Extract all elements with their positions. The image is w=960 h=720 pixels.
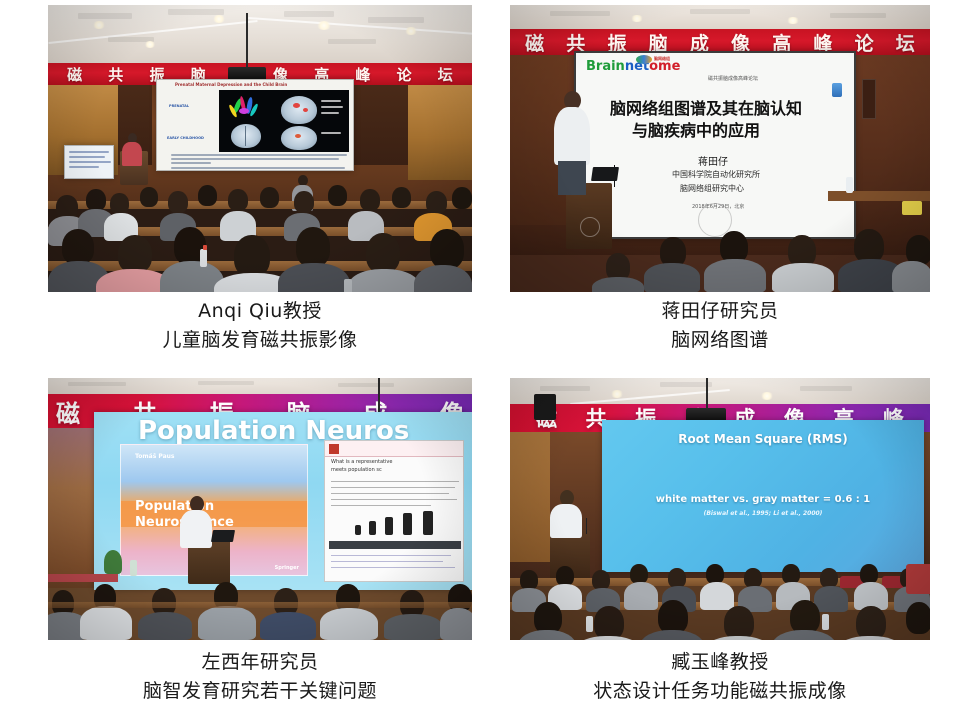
audience-head [328,185,347,206]
audience-area [510,201,930,292]
audience-body-front [278,263,350,292]
monitor-text-line [69,151,109,153]
water-bottle [203,245,207,250]
paper-figure-silhouette [403,513,412,535]
slide-citation: (Biswal et al., 1995; Li et al., 2000) [602,510,924,517]
ceiling-panel [540,386,590,391]
audience-head [198,185,217,206]
ceiling-downlight [212,15,226,23]
speaker-body-white-shirt [554,107,590,165]
bullet-text-line [171,167,345,169]
brain-slice-axial [281,126,317,150]
slide-label-prenatal: PRENATAL [169,104,189,108]
paper-body-line [331,487,455,488]
slide-affiliation-1: 中国科学院自动化研究所 [672,169,760,180]
audience-head-front [906,602,930,634]
tract-fiber [239,108,249,114]
audience-head [860,564,878,584]
laptop [591,167,619,181]
audience-body [772,263,834,292]
caption-talk-title: 状态设计任务功能磁共振成像 [510,677,930,706]
banner-char: 坛 [438,64,453,85]
audience-body [814,586,848,612]
audience-head-front [790,600,820,634]
audience-head-front [724,606,754,640]
audience-head [592,570,610,590]
audience-head [228,189,248,211]
book-author: Tomáš Paus [135,453,175,460]
audience-head-front [366,233,400,273]
brain-activation-blob [303,108,308,112]
paper-header-bar [325,441,463,457]
audience-head [392,187,411,208]
caption-speaker-name: Anqi Qiu教授 [48,297,472,326]
attendee-badge [902,201,922,215]
projector-pole [706,378,708,412]
audience-head-front [430,229,464,269]
wall-side-frame [862,79,876,119]
audience-body [700,582,734,610]
paper-figure-silhouette [369,521,376,535]
audience-head [630,564,648,584]
ceiling-panel [800,386,852,391]
audience-body [80,606,132,640]
ceiling-downlight [610,390,624,398]
audience-head-front [118,235,152,273]
audience-body [198,606,256,640]
wall-speaker-box [534,394,556,420]
paper-screenshot: What is a representative meets populatio… [324,440,464,582]
caption-bottom-right: 臧玉峰教授 状态设计任务功能磁共振成像 [510,648,930,706]
banner-char: 论 [855,29,874,55]
audience-head [520,570,538,590]
monitor-text-line [69,166,99,168]
ceiling-panel [660,382,712,387]
audience-area [510,554,930,640]
audience-head-front [296,227,330,267]
figure-annotation [321,100,341,102]
audience-body-front [518,630,576,640]
audience-head [426,191,447,214]
brain-slice-axial [281,96,317,124]
audience-head [260,187,279,208]
brain-figure-panel [219,90,349,152]
audience-head-front [234,235,270,277]
ceiling-panel [338,383,394,387]
slide-title-line1: 脑网络组图谱及其在脑认知 [610,95,802,119]
wall-wood-panel [48,428,94,578]
speaker-trousers [558,161,586,195]
paper-body-line [331,481,459,482]
audience-head [110,193,129,214]
brain-activation-blob [293,103,300,108]
slide-presenter: 蒋田仔 [698,153,728,168]
logo-part-brain: Brain [586,59,625,74]
banner-char: 坛 [896,29,915,55]
slide-label-childhood: EARLY CHILDHOOD [167,136,204,140]
speaker-body-white-shirt [180,510,212,548]
banner-char: 峰 [355,64,370,85]
figure-annotation [321,112,339,114]
banner-char: 磁 [525,29,544,55]
audience-head-front [856,606,886,640]
ceiling-downlight [760,392,774,400]
audience-body [624,582,658,610]
ceiling-panel [368,17,424,23]
audience-body [892,261,930,292]
water-bottle [822,614,829,630]
banner-char: 共 [108,64,123,85]
audience-head [556,566,574,586]
water-bottle [200,249,207,267]
slide-affiliation-2: 脑网络组研究中心 [680,183,744,194]
ceiling-panel [328,39,376,44]
audience-body-front [640,630,704,640]
projection-screen: Population Neuros Tomáš Paus Population … [94,412,472,590]
caption-top-left: Anqi Qiu教授 儿童脑发育磁共振影像 [48,297,472,355]
audience-head [782,564,800,584]
slide-body-text: white matter vs. gray matter = 0.6 : 1 [602,494,924,505]
caption-talk-title: 儿童脑发育磁共振影像 [48,326,472,355]
photo-3-image: 磁 共 振 脑 成 像 Population Neuros Tomáš Paus… [48,378,472,640]
audience-body [260,612,316,640]
slide-title-line2: 与脑疾病中的应用 [632,117,760,141]
front-table [828,191,930,201]
paper-heading-line1: What is a representative [331,459,392,465]
caption-speaker-name: 臧玉峰教授 [510,648,930,677]
water-bottle [344,279,352,292]
slide-forum-tag: 磁共振脑成像高峰论坛 [708,75,758,82]
caption-talk-title: 脑智发育研究若干关键问题 [48,677,472,706]
figure-annotation [321,106,343,108]
banner-char: 磁 [67,64,82,85]
paper-body-line [331,561,443,562]
side-monitor [64,145,114,179]
audience-body [384,614,442,640]
ceiling-panel [284,11,334,17]
side-red-chair [906,564,930,594]
slide-header: Prenatal Maternal Depression and the Chi… [175,82,287,87]
audience-body-front [772,630,836,640]
audience-body [440,608,472,640]
paper-figure-silhouette [355,525,361,535]
brain-slice-midline [245,126,246,146]
ceiling-downlight [786,17,800,24]
microphone-stand [586,518,587,534]
audience-body-front [576,636,640,640]
ceiling-panel [198,381,254,385]
audience-body [704,259,766,292]
audience-body-front [706,636,770,640]
brain-slice-axial [231,124,261,148]
audience-body [644,263,700,292]
audience-head [294,191,314,213]
photo-1-image: 磁 共 振 脑 成 像 高 峰 论 坛 Prenatal Mate [48,5,472,292]
caption-bottom-left: 左西年研究员 脑智发育研究若干关键问题 [48,648,472,706]
water-bottle [586,616,593,632]
paper-body-line [331,499,457,500]
wall-wood-panel [510,432,550,562]
audience-body-front [414,265,472,292]
photo-4-image: 磁 共 振 脑 成 像 高 峰 Root Mean Square (RMS) w… [510,378,930,640]
audience-head [360,189,380,211]
paper-body-line [331,493,449,494]
audience-area [48,183,472,292]
audience-head-front [658,600,688,634]
laptop [211,530,235,542]
photo-cell-top-right: 磁 共 振 脑 成 像 高 峰 论 坛 Brainnetome [510,5,930,292]
logo-cloud-icon [636,55,652,64]
wall-wood-panel [408,85,472,180]
ceiling-downlight [630,15,644,22]
paper-body-line [331,505,431,506]
caption-talk-title: 脑网络图谱 [510,326,930,355]
caption-speaker-name: 左西年研究员 [48,648,472,677]
audience-head [706,564,724,584]
desk-row [48,602,472,608]
bullet-text-line [171,162,211,164]
wall-dark-panel [348,85,408,165]
water-bottle [846,177,853,193]
ceiling-downlight [92,21,106,29]
audience-body-front [348,269,420,292]
audience-body [320,608,378,640]
audience-head [854,229,884,263]
speaker-body [122,142,142,166]
photo-cell-bottom-right: 磁 共 振 脑 成 像 高 峰 Root Mean Square (RMS) w… [510,378,930,640]
audience-head [86,189,106,211]
figure-annotation [321,132,341,134]
ceiling-panel [690,9,750,14]
paper-figure-silhouette [385,517,393,535]
audience-body [138,612,192,640]
photo-2-image: 磁 共 振 脑 成 像 高 峰 论 坛 Brainnetome [510,5,930,292]
ceiling-downlight [404,27,418,35]
ceiling-panel [68,382,126,386]
photo-grid-page: 磁 共 振 脑 成 像 高 峰 论 坛 Prenatal Mate [0,0,960,720]
banner-char: 论 [397,64,412,85]
ceiling-panel [78,13,132,19]
paper-logo [329,444,339,454]
audience-head [820,568,838,588]
audience-head [140,187,158,207]
caption-top-right: 蒋田仔研究员 脑网络图谱 [510,297,930,355]
audience-area [48,568,472,640]
paper-body-line [331,555,451,556]
paper-heading-line2: meets population sc [331,467,382,473]
audience-head [168,191,188,213]
ceiling-panel [168,9,224,15]
logo-subtitle-cn: 脑网络组 [654,56,670,62]
audience-body-front [838,636,902,640]
ceiling-downlight [144,41,156,48]
photo-cell-bottom-left: 磁 共 振 脑 成 像 Population Neuros Tomáš Paus… [48,378,472,640]
bullet-text-line [171,154,347,156]
monitor-text-line [69,156,105,158]
audience-body [592,277,644,292]
ceiling-panel [550,11,610,16]
ceiling-downlight [316,21,332,30]
ceiling-panel [830,13,886,18]
projector-pole [246,13,248,69]
paper-figure-silhouette [423,511,433,535]
audience-head-front [62,229,94,265]
speaker-body-white-shirt [550,504,582,538]
photo-cell-top-left: 磁 共 振 脑 成 像 高 峰 论 坛 Prenatal Mate [48,5,472,292]
slide-title: Root Mean Square (RMS) [602,432,924,446]
brain-activation-blob [295,134,301,138]
audience-head [668,568,686,588]
projection-screen: Root Mean Square (RMS) white matter vs. … [602,420,924,572]
bullet-text-line [171,158,339,160]
audience-head [744,568,762,588]
audience-head [452,187,472,209]
caption-speaker-name: 蒋田仔研究员 [510,297,930,326]
banner-char: 磁 [56,394,80,428]
monitor-text-line [69,161,111,163]
slide-corner-icon [832,83,842,97]
projection-screen: Prenatal Maternal Depression and the Chi… [156,79,354,171]
audience-head-front [594,606,624,640]
paper-footer-bar [329,541,461,549]
